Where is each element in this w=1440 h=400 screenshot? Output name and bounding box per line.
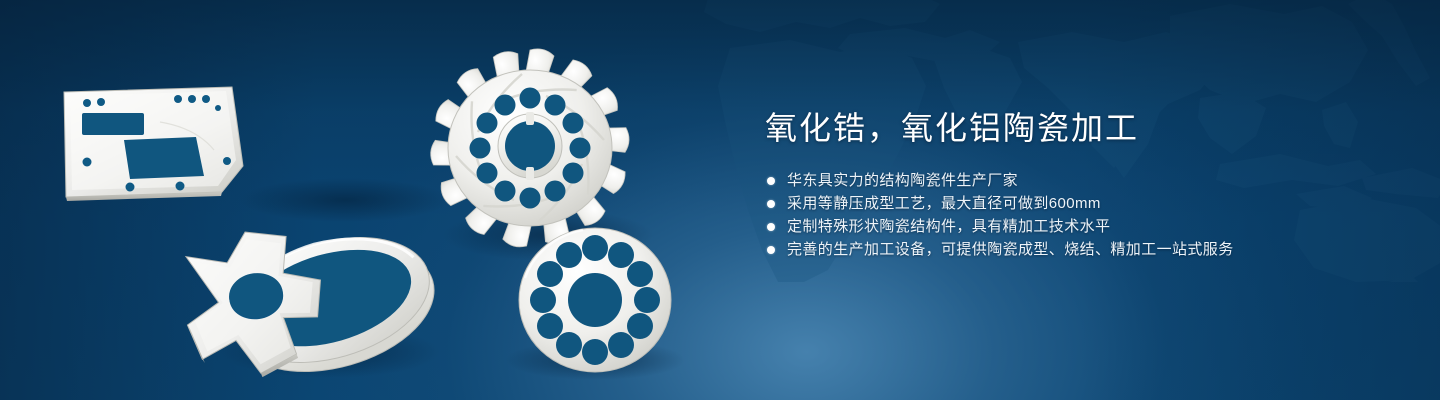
feature-text-3: 定制特殊形状陶瓷结构件，具有精加工技术水平 — [787, 218, 1110, 235]
banner-headline: 氧化锆，氧化铝陶瓷加工 — [765, 108, 1385, 148]
feature-item-4: 完善的生产加工设备，可提供陶瓷成型、烧结、精加工一站式服务 — [765, 242, 1385, 258]
bullet-dot-icon — [767, 246, 775, 254]
banner-copy: 氧化锆，氧化铝陶瓷加工 华东具实力的结构陶瓷件生产厂家 采用等静压成型工艺，最大… — [765, 108, 1385, 265]
bullet-dot-icon — [767, 177, 775, 185]
feature-item-2: 采用等静压成型工艺，最大直径可做到600mm — [765, 196, 1385, 212]
bullet-dot-icon — [767, 223, 775, 231]
bullet-dot-icon — [767, 200, 775, 208]
ceramic-perforated-disc-shape — [519, 228, 671, 372]
feature-item-3: 定制特殊形状陶瓷结构件，具有精加工技术水平 — [765, 219, 1385, 235]
feature-text-4: 完善的生产加工设备，可提供陶瓷成型、烧结、精加工一站式服务 — [787, 241, 1234, 258]
banner-feature-list: 华东具实力的结构陶瓷件生产厂家 采用等静压成型工艺，最大直径可做到600mm 定… — [765, 173, 1385, 258]
feature-item-1: 华东具实力的结构陶瓷件生产厂家 — [765, 173, 1385, 189]
feature-text-2: 采用等静压成型工艺，最大直径可做到600mm — [787, 195, 1101, 212]
ceramic-mounting-plate-shape — [64, 87, 243, 201]
feature-text-1: 华东具实力的结构陶瓷件生产厂家 — [787, 172, 1018, 189]
ceramic-products-image — [0, 0, 720, 400]
hero-banner: 氧化锆，氧化铝陶瓷加工 华东具实力的结构陶瓷件生产厂家 采用等静压成型工艺，最大… — [0, 0, 1440, 400]
